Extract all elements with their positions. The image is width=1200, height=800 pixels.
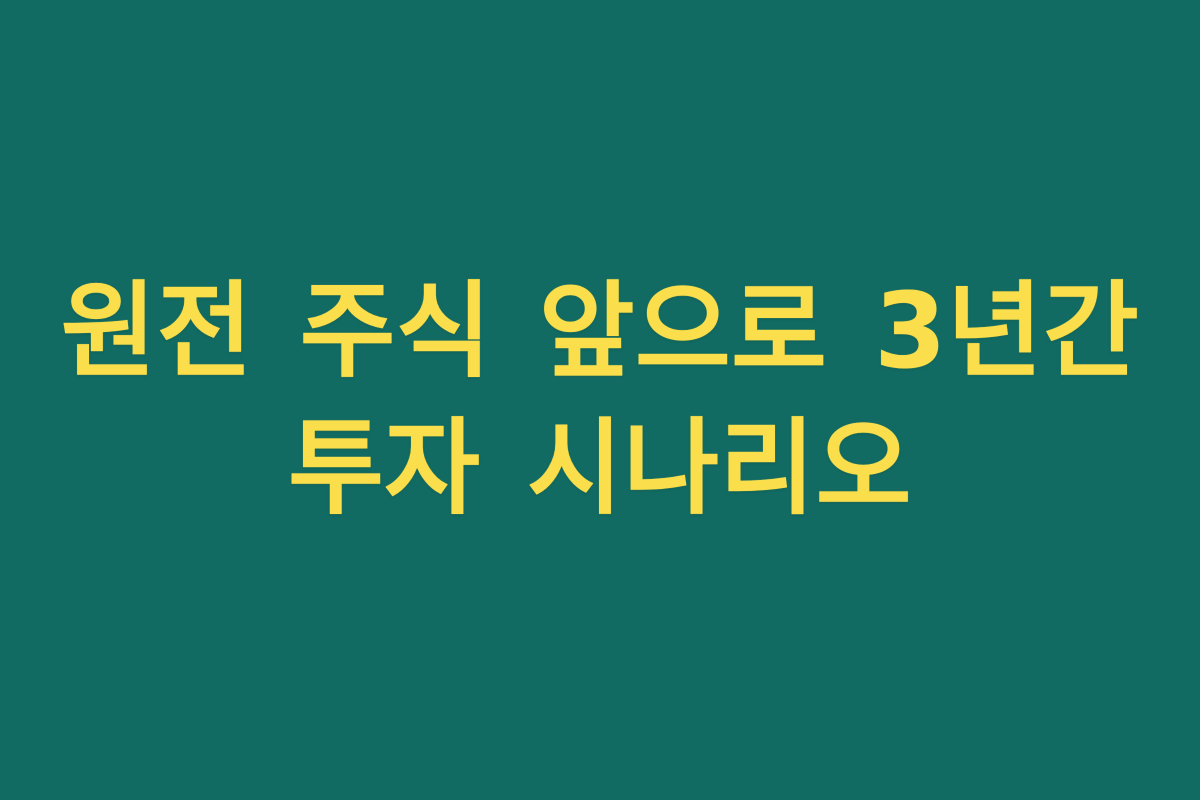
headline-line-1: 원전 주식 앞으로 3년간: [40, 262, 1160, 401]
headline-text: 원전 주식 앞으로 3년간 투자 시나리오: [0, 262, 1200, 539]
headline-line-2: 투자 시나리오: [40, 399, 1160, 538]
title-card: 원전 주식 앞으로 3년간 투자 시나리오: [0, 0, 1200, 800]
